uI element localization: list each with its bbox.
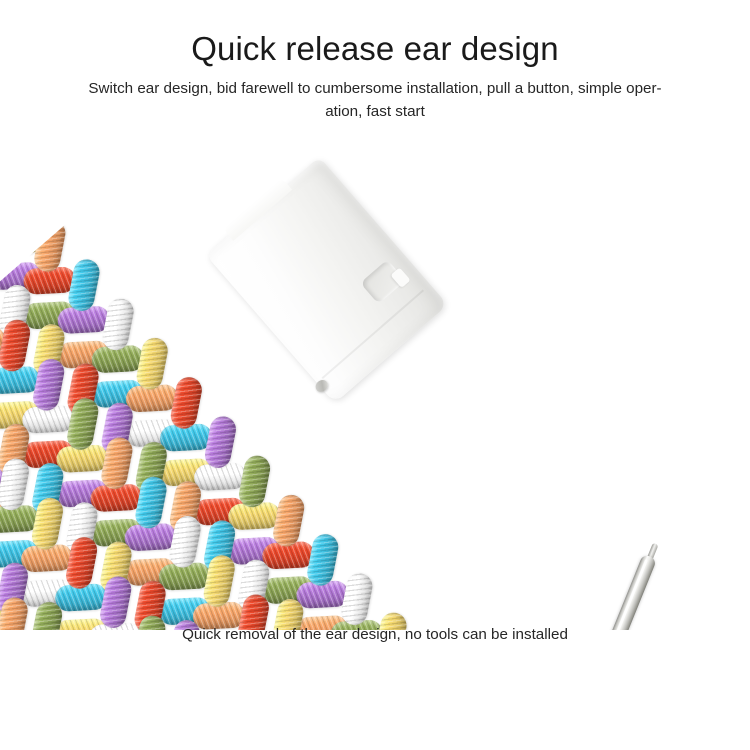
braid-strand xyxy=(0,318,32,374)
braid-strand xyxy=(32,218,67,274)
page-subtitle: Switch ear design, bid farewell to cumbe… xyxy=(25,68,725,123)
braid-strand xyxy=(135,336,170,392)
braid-strand xyxy=(305,532,340,588)
braid-strand xyxy=(271,493,306,549)
header-block: Quick release ear design Switch ear desi… xyxy=(0,0,750,123)
page-title: Quick release ear design xyxy=(0,0,750,68)
product-marketing-image: Quick release ear design Switch ear desi… xyxy=(0,0,750,750)
product-photo xyxy=(0,150,750,630)
braid-strand xyxy=(169,375,204,431)
bottom-caption: Quick removal of the ear design, no tool… xyxy=(0,626,750,643)
braid-strand xyxy=(237,453,272,509)
braid-strand xyxy=(339,571,374,627)
braid-strand xyxy=(203,414,238,470)
braid-strand xyxy=(0,456,31,512)
braid-strand xyxy=(66,257,101,313)
spring-bar-pin xyxy=(522,538,722,630)
braid-strand xyxy=(100,296,135,352)
